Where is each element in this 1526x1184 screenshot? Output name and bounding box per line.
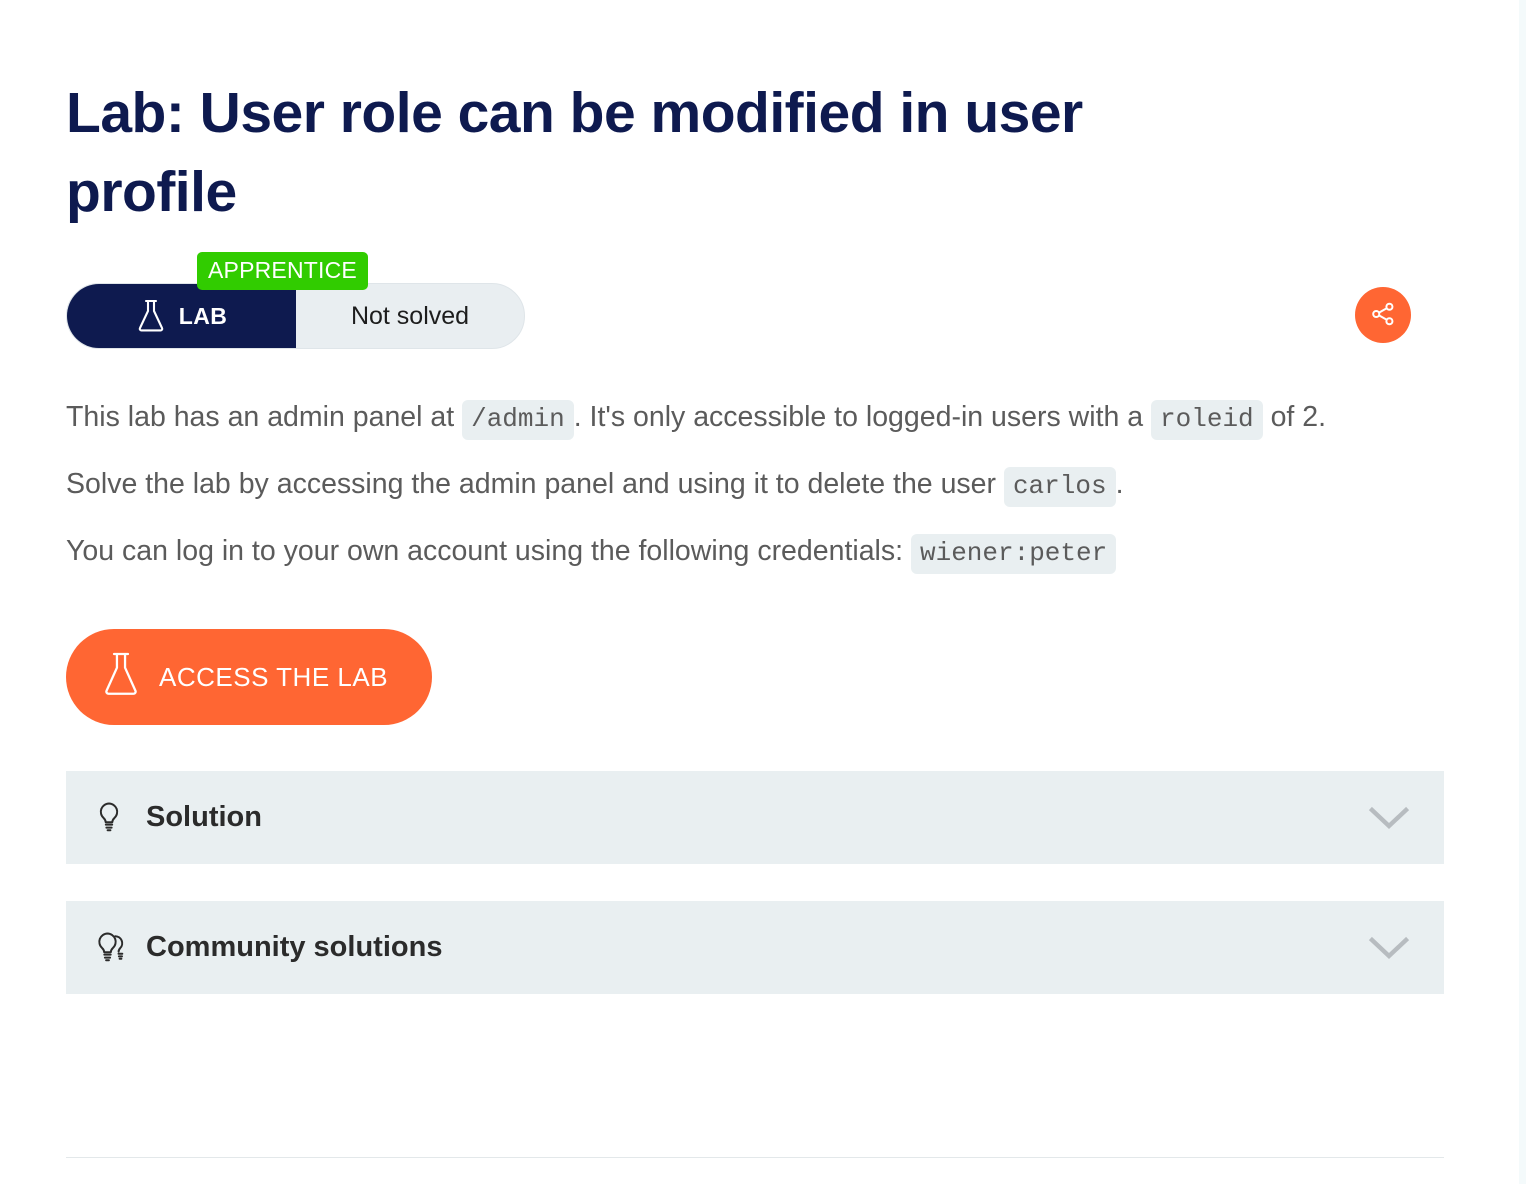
accordion-list: Solution Community solutions — [66, 771, 1444, 994]
accordion-community-solutions[interactable]: Community solutions — [66, 901, 1444, 994]
access-the-lab-button[interactable]: ACCESS THE LAB — [66, 629, 432, 725]
lab-description: This lab has an admin panel at /admin. I… — [66, 399, 1444, 570]
chevron-down-icon[interactable] — [1368, 935, 1410, 961]
accordion-community-solutions-label: Community solutions — [146, 931, 1368, 964]
lab-status-pill: LAB Not solved — [66, 283, 525, 349]
description-paragraph-1: This lab has an admin panel at /admin. I… — [66, 399, 1444, 437]
status-widget-row: APPRENTICE LAB Not solved — [66, 283, 1444, 383]
accordion-solution[interactable]: Solution — [66, 771, 1444, 864]
chevron-down-icon[interactable] — [1368, 805, 1410, 831]
solved-status: Not solved — [296, 284, 524, 348]
accordion-solution-label: Solution — [146, 801, 1368, 834]
desc-p2-text-1: Solve the lab by accessing the admin pan… — [66, 468, 996, 500]
share-icon — [1369, 300, 1397, 331]
lab-status-widget: APPRENTICE LAB Not solved — [66, 283, 525, 349]
code-chip-carlos: carlos — [1004, 467, 1116, 507]
lab-pill-left: LAB — [67, 284, 296, 348]
flask-icon — [102, 651, 140, 704]
page-title: Lab: User role can be modified in user p… — [66, 0, 1266, 231]
share-button[interactable] — [1355, 287, 1411, 343]
description-paragraph-2: Solve the lab by accessing the admin pan… — [66, 466, 1444, 504]
double-lightbulb-icon — [96, 931, 136, 965]
lab-page: Lab: User role can be modified in user p… — [0, 0, 1526, 1184]
desc-p1-text-3: of 2. — [1271, 401, 1326, 433]
code-chip-roleid: roleid — [1151, 400, 1263, 440]
code-chip-credentials: wiener:peter — [911, 534, 1116, 574]
content-column: Lab: User role can be modified in user p… — [66, 0, 1444, 1031]
code-chip-admin: /admin — [462, 400, 574, 440]
desc-p2-text-2: . — [1116, 468, 1124, 500]
access-the-lab-label: ACCESS THE LAB — [159, 662, 388, 693]
desc-p1-text-1: This lab has an admin panel at — [66, 401, 454, 433]
flask-icon — [136, 299, 166, 333]
description-paragraph-3: You can log in to your own account using… — [66, 533, 1444, 571]
difficulty-badge: APPRENTICE — [197, 252, 368, 290]
scrollbar-track[interactable] — [1519, 0, 1526, 1184]
section-divider — [66, 1157, 1444, 1158]
desc-p1-text-2: . It's only accessible to logged-in user… — [574, 401, 1143, 433]
lightbulb-icon — [96, 801, 136, 835]
desc-p3-text-1: You can log in to your own account using… — [66, 535, 903, 567]
lab-pill-label: LAB — [179, 303, 227, 330]
